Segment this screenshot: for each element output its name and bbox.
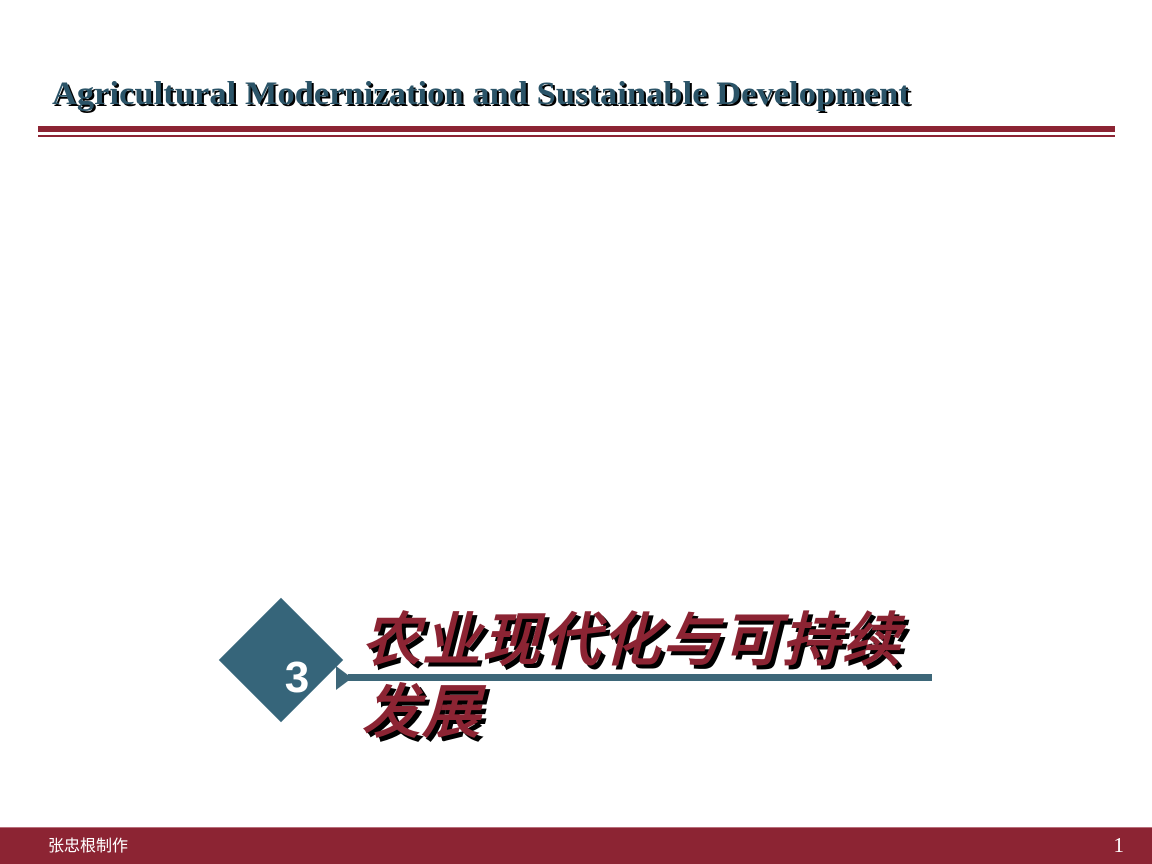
section-heading-line-1: 农业现代化与可持续	[362, 604, 962, 676]
section-heading-line-2: 发展	[362, 676, 962, 748]
section-heading: 农业现代化与可持续 发展	[362, 604, 962, 748]
footer-top-rule	[0, 827, 1152, 828]
presentation-slide: Agricultural Modernization and Sustainab…	[0, 0, 1152, 864]
footer-page-number: 1	[1114, 833, 1125, 857]
slide-header-title: Agricultural Modernization and Sustainab…	[52, 74, 1152, 114]
header-divider	[38, 126, 1115, 140]
footer-author-label: 张忠根制作	[48, 836, 128, 856]
divider-thin-line	[38, 135, 1115, 137]
slide-body: 3 农业现代化与可持续 发展	[0, 300, 1152, 480]
slide-footer: 张忠根制作 1	[0, 827, 1152, 864]
